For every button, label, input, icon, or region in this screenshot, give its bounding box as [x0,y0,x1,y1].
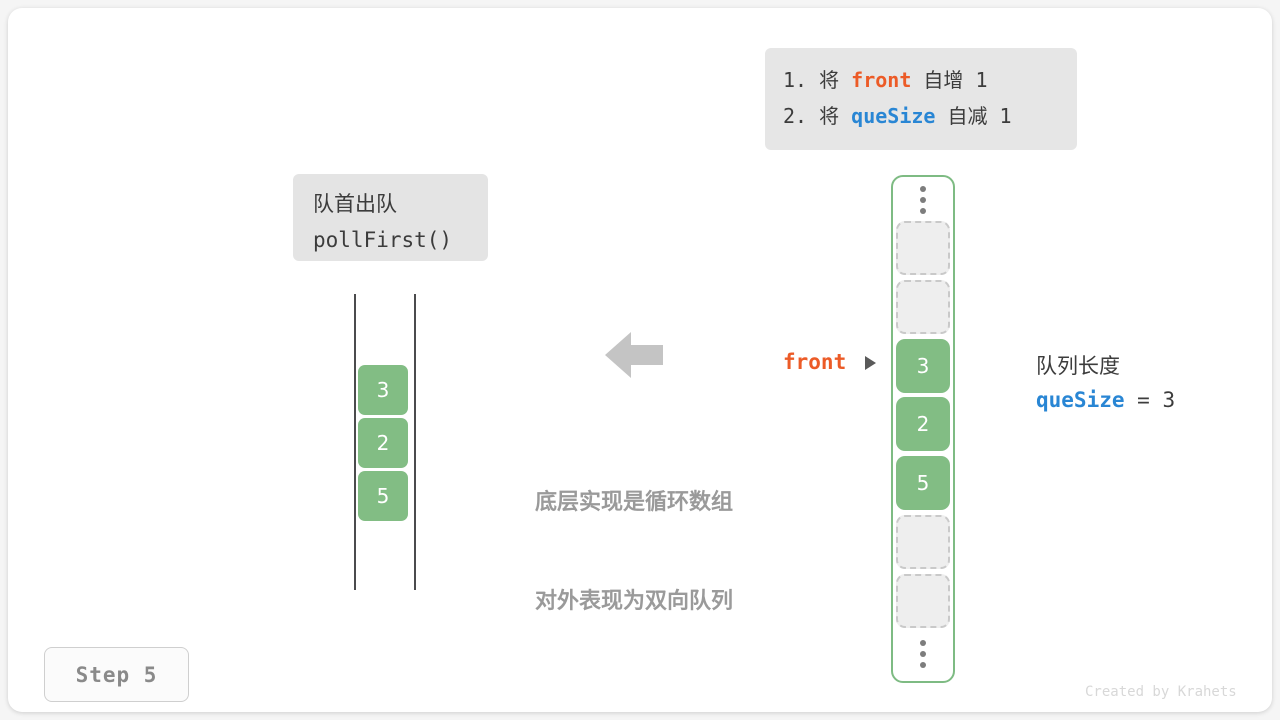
operation-note-box: 1. 将 front 自增 1 2. 将 queSize 自减 1 [765,48,1077,150]
operation-note-line-1: 1. 将 front 自增 1 [783,62,1077,98]
operation-label-method: pollFirst() [313,222,488,258]
quesize-variable: queSize [1036,388,1125,412]
vertical-ellipsis-icon-top [916,186,930,216]
front-pointer-label: front [783,350,846,374]
quesize-equals: = [1125,388,1163,412]
deque-cell: 3 [358,365,408,415]
deque-cell: 5 [358,471,408,521]
note-1-keyword-front: front [851,68,911,92]
operation-note-line-2: 2. 将 queSize 自减 1 [783,98,1077,134]
deque-rail-right [414,294,416,590]
quesize-value: 3 [1162,388,1175,412]
note-1-prefix: 1. 将 [783,68,851,92]
credit-text: Created by Krahets [1085,684,1237,700]
array-slot-empty [896,280,950,334]
array-slot-empty [896,221,950,275]
diagram-caption: 底层实现是循环数组 对外表现为双向队列 [511,420,757,684]
note-1-suffix: 自增 1 [911,68,987,92]
slide-card: 1. 将 front 自增 1 2. 将 queSize 自减 1 队首出队 p… [8,8,1272,712]
note-2-suffix: 自减 1 [935,104,1011,128]
note-2-prefix: 2. 将 [783,104,851,128]
operation-label-box: 队首出队 pollFirst() [293,174,488,261]
front-pointer-arrow-icon [865,356,876,370]
deque-rail-left [354,294,356,590]
queue-size-expression: queSize = 3 [1036,382,1175,418]
queue-size-label: 队列长度 [1036,350,1175,382]
operation-label-title: 队首出队 [313,186,488,222]
vertical-ellipsis-icon-bottom [916,640,930,670]
note-2-keyword-quesize: queSize [851,104,935,128]
caption-line-1: 底层实现是循环数组 [511,486,757,519]
array-slot-empty [896,515,950,569]
left-arrow-icon [605,330,663,380]
array-slot-empty [896,574,950,628]
caption-line-2: 对外表现为双向队列 [511,585,757,618]
step-badge: Step 5 [44,647,189,702]
queue-size-info: 队列长度 queSize = 3 [1036,350,1175,418]
array-slot-filled: 5 [896,456,950,510]
array-slot-filled: 2 [896,397,950,451]
array-slot-filled: 3 [896,339,950,393]
deque-cell: 2 [358,418,408,468]
